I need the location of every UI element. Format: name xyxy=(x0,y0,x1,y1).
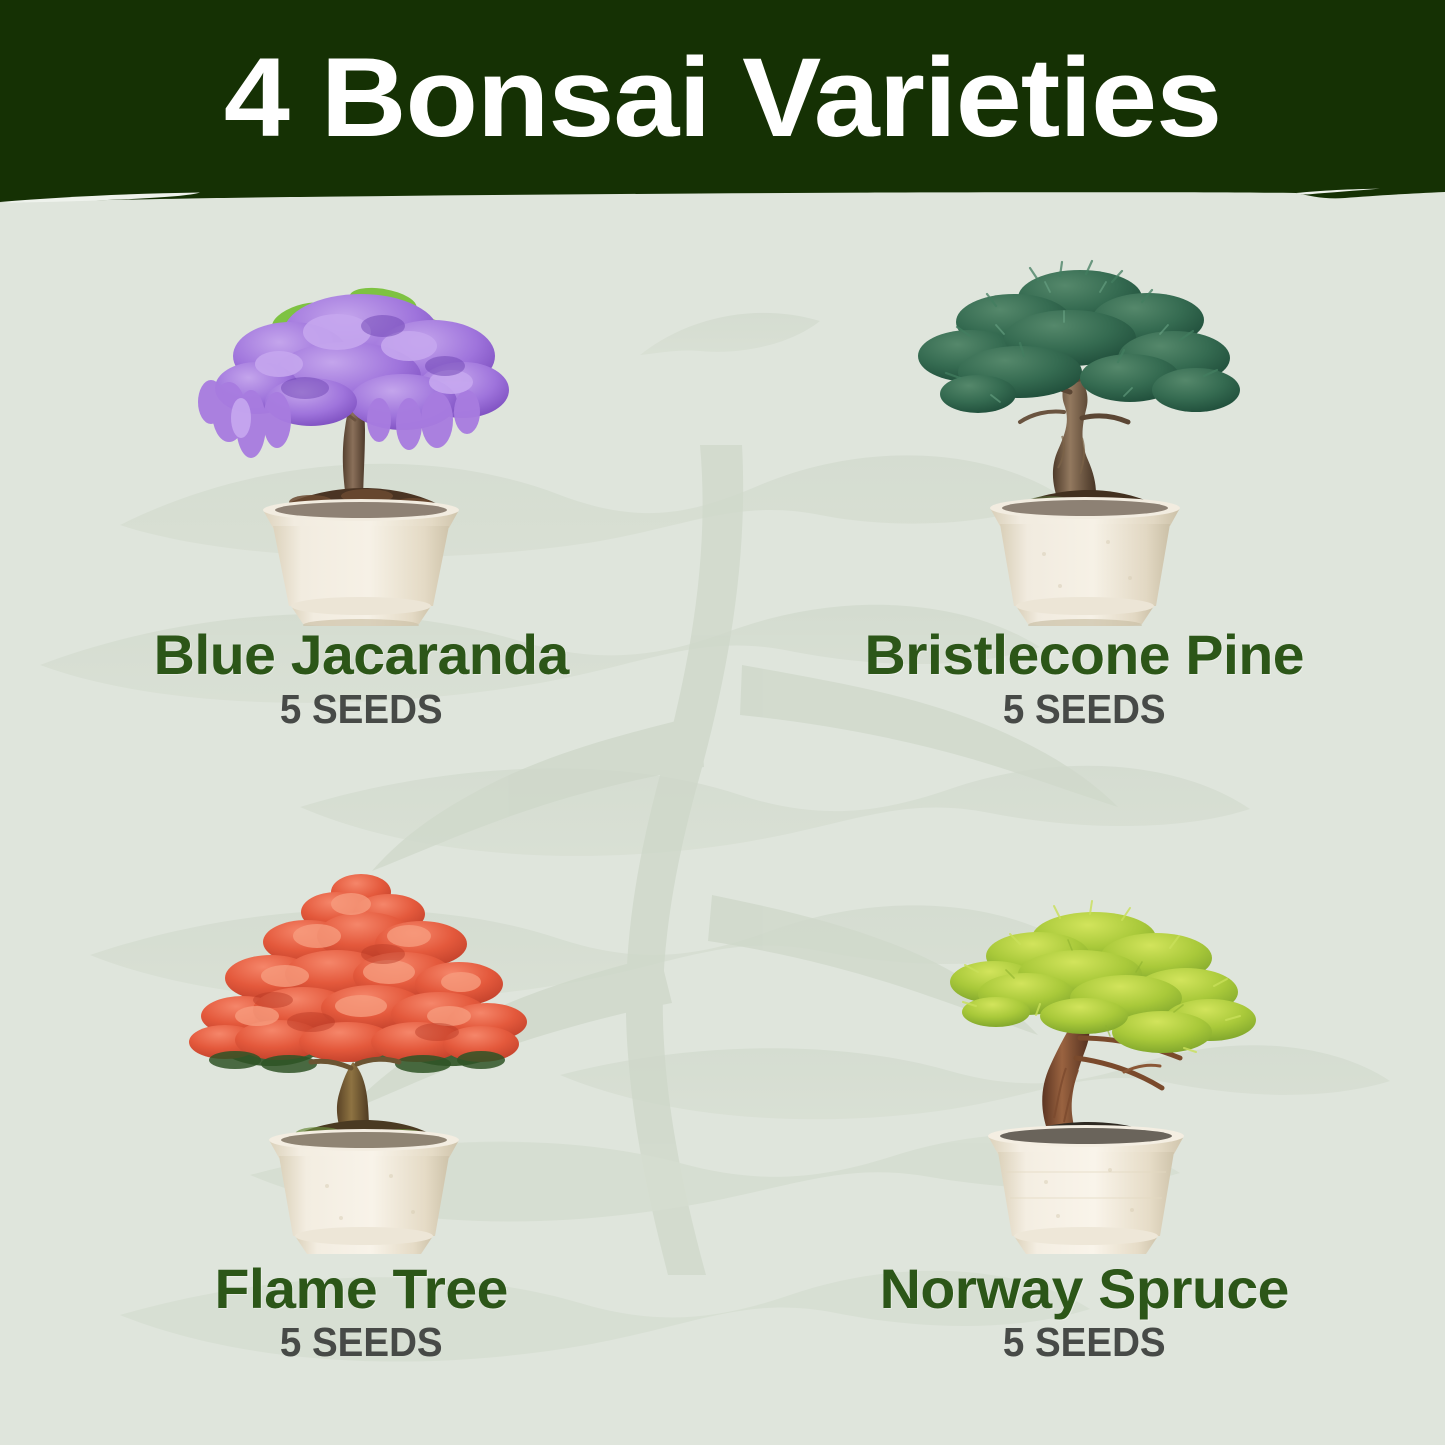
flame-tree-bonsai-photo xyxy=(0,826,723,1254)
variety-name: Bristlecone Pine xyxy=(715,626,1445,684)
norway-spruce-bonsai-photo xyxy=(723,826,1445,1254)
variety-quantity: 5 SEEDS xyxy=(744,1317,1423,1368)
variety-name: Norway Spruce xyxy=(715,1260,1445,1318)
variety-card-norway-spruce[interactable]: Norway Spruce 5 SEEDS xyxy=(723,826,1445,1445)
variety-quantity: 5 SEEDS xyxy=(744,684,1423,735)
page-title: 4 Bonsai Varieties xyxy=(0,0,1445,196)
variety-card-bristlecone-pine[interactable]: Bristlecone Pine 5 SEEDS xyxy=(723,206,1445,826)
header-banner: 4 Bonsai Varieties xyxy=(0,0,1445,206)
infographic-page: 4 Bonsai Varieties xyxy=(0,0,1445,1445)
variety-quantity: 5 SEEDS xyxy=(22,1317,701,1368)
variety-caption: Norway Spruce 5 SEEDS xyxy=(723,1260,1445,1369)
variety-quantity: 5 SEEDS xyxy=(22,684,701,735)
variety-card-flame-tree[interactable]: Flame Tree 5 SEEDS xyxy=(0,826,723,1445)
variety-caption: Blue Jacaranda 5 SEEDS xyxy=(0,626,723,735)
variety-name: Blue Jacaranda xyxy=(0,626,730,684)
variety-caption: Flame Tree 5 SEEDS xyxy=(0,1260,723,1369)
variety-name: Flame Tree xyxy=(0,1260,730,1318)
bristlecone-pine-bonsai-photo xyxy=(723,206,1445,626)
blue-jacaranda-bonsai-photo xyxy=(0,206,723,626)
variety-grid: Blue Jacaranda 5 SEEDS xyxy=(0,206,1445,1445)
variety-caption: Bristlecone Pine 5 SEEDS xyxy=(723,626,1445,735)
variety-card-blue-jacaranda[interactable]: Blue Jacaranda 5 SEEDS xyxy=(0,206,723,826)
